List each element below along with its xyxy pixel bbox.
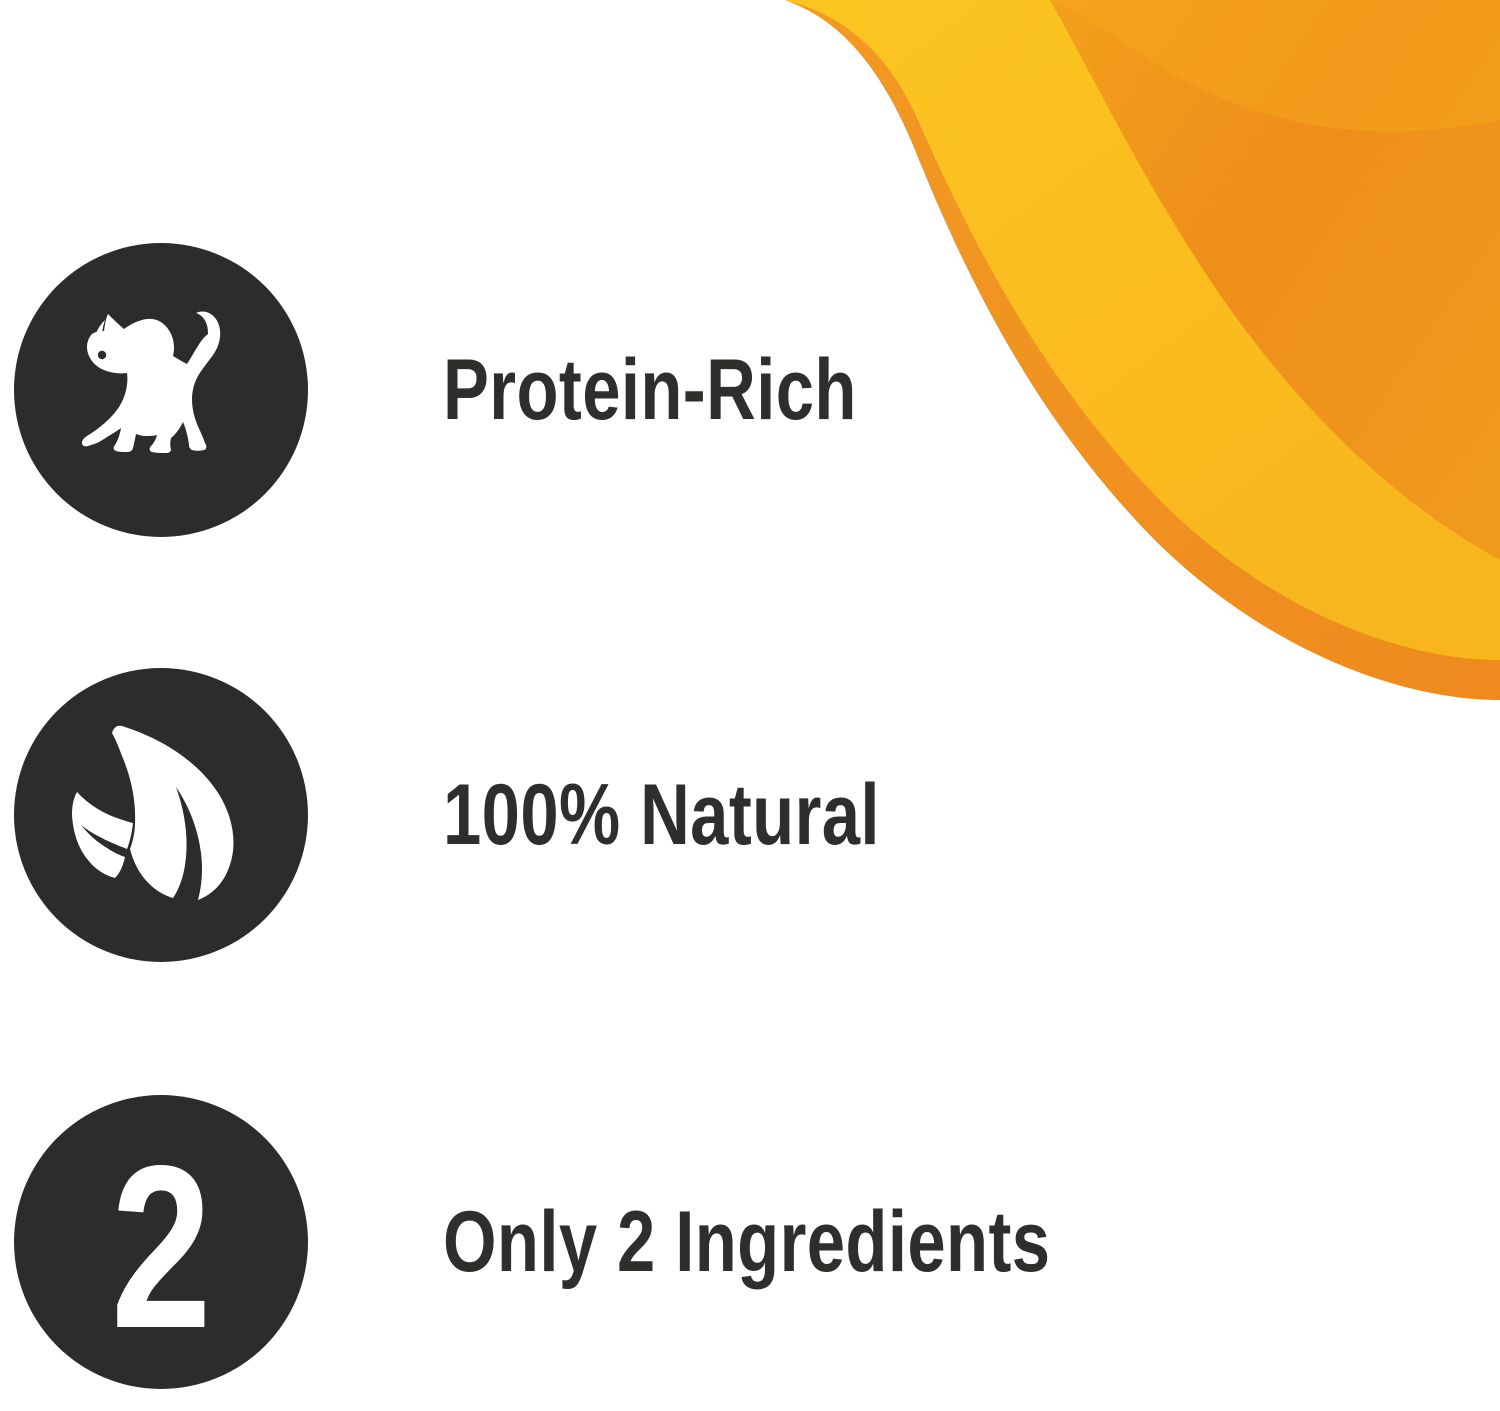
cat-icon-badge (14, 243, 308, 537)
cat-icon (61, 298, 261, 483)
number-two-icon: 2 (111, 1132, 210, 1364)
leaf-icon (59, 715, 264, 915)
leaf-icon-badge (14, 668, 308, 962)
feature-highlights-panel: Protein-Rich 100% Natural 2 Only 2 Ingre… (0, 0, 1500, 1411)
feature-label-ingredients: Only 2 Ingredients (443, 1199, 1050, 1285)
feature-label-protein-rich: Protein-Rich (443, 347, 857, 433)
feature-row: Protein-Rich (0, 242, 1500, 538)
feature-row: 2 Only 2 Ingredients (0, 1094, 1500, 1390)
feature-row: 100% Natural (0, 667, 1500, 963)
number-two-icon-badge: 2 (14, 1095, 308, 1389)
feature-label-natural: 100% Natural (443, 772, 880, 858)
